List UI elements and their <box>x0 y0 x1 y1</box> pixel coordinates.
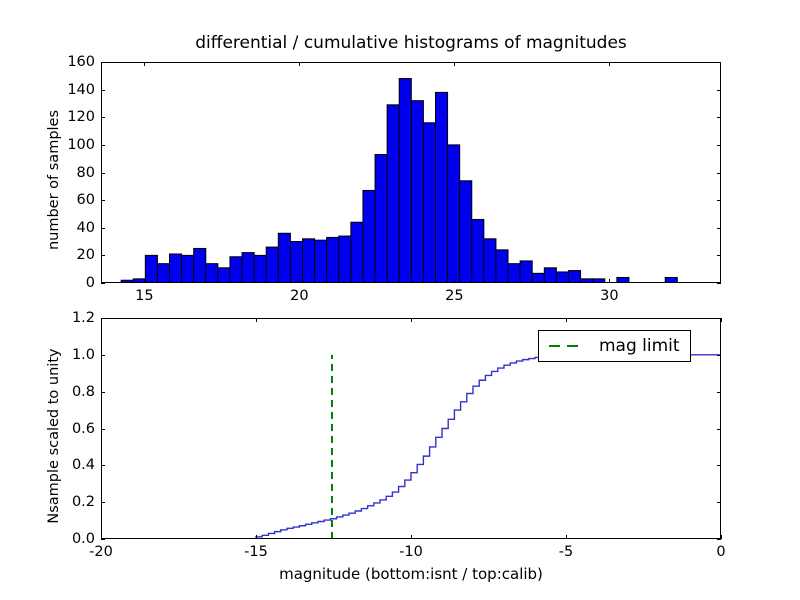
x-tick-mark <box>101 318 102 322</box>
x-tick-mark <box>299 279 300 283</box>
histogram-bar <box>581 279 593 283</box>
cumulative-curve <box>101 355 721 539</box>
x-tick-mark <box>566 535 567 539</box>
histogram-bar <box>665 277 677 283</box>
x-tick-mark <box>144 62 145 66</box>
histogram-bar <box>278 233 290 283</box>
histogram-bar <box>448 145 460 283</box>
y-tick-mark <box>101 145 105 146</box>
histogram-bar <box>568 271 580 283</box>
y-tick-label: 0.4 <box>72 457 95 473</box>
histogram-bar <box>121 280 133 283</box>
histogram-bar <box>435 92 447 283</box>
histogram-bar <box>145 255 157 283</box>
x-tick-label: 15 <box>135 288 153 304</box>
y-tick-mark <box>101 117 105 118</box>
y-tick-mark <box>101 200 105 201</box>
y-tick-mark <box>717 62 721 63</box>
figure-title: differential / cumulative histograms of … <box>101 33 721 53</box>
histogram-bar <box>303 239 315 283</box>
y-tick-label: 0.6 <box>72 421 95 437</box>
y-tick-mark <box>101 539 105 540</box>
y-tick-mark <box>717 429 721 430</box>
histogram-bar <box>532 273 544 283</box>
x-tick-mark <box>411 318 412 322</box>
x-tick-mark <box>609 279 610 283</box>
histogram-bar <box>206 264 218 283</box>
histogram-bar <box>351 222 363 283</box>
histogram-bar <box>266 247 278 283</box>
y-tick-label: 40 <box>77 220 95 236</box>
y-tick-label: 1.0 <box>72 347 95 363</box>
histogram-plot-area <box>101 62 721 283</box>
x-tick-label: -20 <box>89 544 113 560</box>
y-tick-label: 0 <box>86 275 95 291</box>
histogram-bar <box>363 190 375 283</box>
y-tick-mark <box>717 173 721 174</box>
histogram-bar <box>315 240 327 283</box>
y-tick-mark <box>717 255 721 256</box>
x-tick-mark <box>299 62 300 66</box>
y-tick-label: 160 <box>67 54 95 70</box>
histogram-bar <box>593 279 605 283</box>
histogram-bar <box>399 79 411 283</box>
y-tick-mark <box>717 465 721 466</box>
x-tick-mark <box>101 535 102 539</box>
y-tick-mark <box>101 392 105 393</box>
histogram-bar <box>617 277 629 283</box>
x-tick-label: 20 <box>290 288 308 304</box>
y-tick-mark <box>717 355 721 356</box>
histogram-bar <box>182 255 194 283</box>
x-tick-label: -10 <box>399 544 423 560</box>
y-tick-mark <box>717 228 721 229</box>
y-tick-mark <box>717 392 721 393</box>
histogram-bar <box>230 257 242 283</box>
y-tick-mark <box>101 429 105 430</box>
y-tick-mark <box>101 90 105 91</box>
histogram-bar <box>157 264 169 283</box>
histogram-bar <box>290 242 302 283</box>
histogram-bar <box>544 268 556 283</box>
figure-canvas: differential / cumulative histograms of … <box>0 0 800 600</box>
x-tick-label: -15 <box>244 544 268 560</box>
x-tick-mark <box>256 535 257 539</box>
histogram-bar <box>411 101 423 283</box>
histogram-bar <box>387 105 399 283</box>
x-tick-mark <box>721 318 722 322</box>
y-tick-mark <box>717 90 721 91</box>
x-tick-mark <box>256 318 257 322</box>
x-tick-label: 25 <box>445 288 463 304</box>
mag-limit-line-icon <box>547 345 585 347</box>
y-tick-label: 60 <box>77 192 95 208</box>
y-tick-mark <box>717 145 721 146</box>
y-tick-label: 100 <box>67 137 95 153</box>
x-tick-label: -5 <box>559 544 573 560</box>
figure-x-axis-label: magnitude (bottom:isnt / top:calib) <box>101 565 721 583</box>
x-tick-mark <box>411 535 412 539</box>
histogram-bar <box>339 236 351 283</box>
histogram-bar <box>242 253 254 283</box>
histogram-bar <box>520 261 532 283</box>
y-tick-mark <box>101 228 105 229</box>
histogram-bar <box>496 250 508 283</box>
y-tick-mark <box>101 255 105 256</box>
y-tick-mark <box>717 283 721 284</box>
legend-entry-label: mag limit <box>599 336 680 356</box>
y-tick-mark <box>101 355 105 356</box>
x-tick-label: 0 <box>716 544 725 560</box>
y-tick-label: 20 <box>77 247 95 263</box>
histogram-bar <box>254 255 266 283</box>
x-tick-label: 30 <box>600 288 618 304</box>
x-tick-mark <box>454 62 455 66</box>
x-tick-mark <box>144 279 145 283</box>
x-tick-mark <box>454 279 455 283</box>
histogram-bar <box>484 239 496 283</box>
y-tick-label: 1.2 <box>72 310 95 326</box>
y-tick-mark <box>101 283 105 284</box>
y-tick-label: 140 <box>67 82 95 98</box>
y-tick-mark <box>101 173 105 174</box>
histogram-bar <box>423 123 435 283</box>
y-tick-mark <box>717 539 721 540</box>
y-tick-mark <box>717 117 721 118</box>
x-tick-mark <box>566 318 567 322</box>
y-tick-mark <box>717 502 721 503</box>
y-tick-mark <box>101 465 105 466</box>
y-tick-mark <box>717 200 721 201</box>
cumulative-y-axis-label: Nsample scaled to unity <box>46 326 62 547</box>
y-tick-mark <box>101 502 105 503</box>
y-tick-label: 80 <box>77 165 95 181</box>
cumulative-panel: 0.00.20.40.60.81.01.2 -20-15-10-50 Nsamp… <box>101 318 721 539</box>
histogram-panel: 020406080100120140160 15202530 number of… <box>101 62 721 283</box>
x-tick-mark <box>721 535 722 539</box>
histogram-bar <box>327 237 339 283</box>
histogram-bar <box>194 248 206 283</box>
histogram-bar <box>170 254 182 283</box>
histogram-bar <box>508 264 520 283</box>
histogram-bar <box>460 181 472 283</box>
y-tick-label: 0.2 <box>72 494 95 510</box>
histogram-y-axis-label: number of samples <box>46 70 62 291</box>
y-tick-label: 120 <box>67 109 95 125</box>
x-tick-mark <box>609 62 610 66</box>
y-tick-label: 0.8 <box>72 384 95 400</box>
histogram-bar <box>472 219 484 283</box>
legend-box: mag limit <box>538 330 691 362</box>
histogram-bar <box>218 268 230 283</box>
histogram-bar <box>556 272 568 283</box>
y-tick-mark <box>101 62 105 63</box>
histogram-bar <box>375 155 387 283</box>
